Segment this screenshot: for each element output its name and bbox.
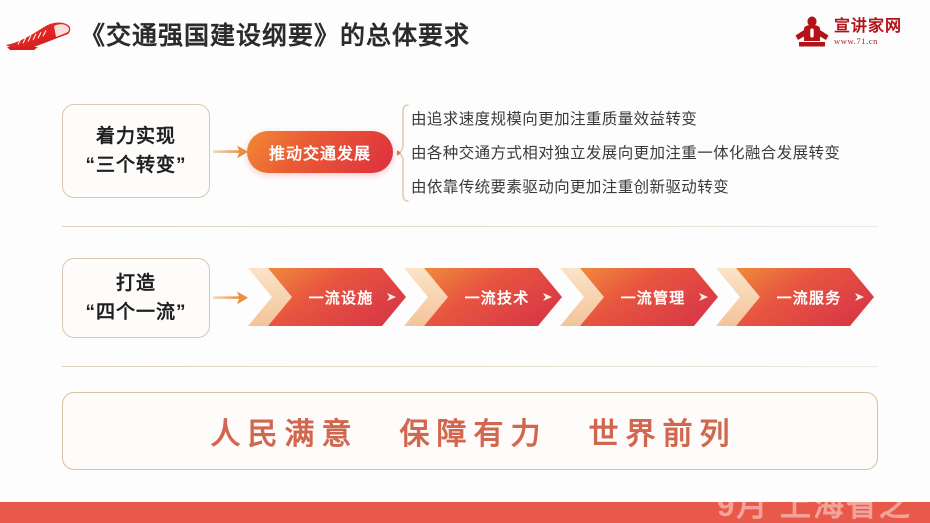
- chevron-item: 一流技术: [404, 268, 562, 326]
- chevron-item: 一流设施: [248, 268, 406, 326]
- slogan-word: 世界前列: [582, 409, 737, 453]
- label-line-2: “三个转变”: [85, 151, 186, 180]
- brand-logo[interactable]: 宣讲家网 www.71.cn: [794, 10, 916, 54]
- svg-text:一流技术: 一流技术: [465, 289, 530, 307]
- bullet-line: 由追求速度规模向更加注重质量效益转变: [411, 103, 891, 137]
- label-box-four-firsts: 打造 “四个一流”: [62, 258, 210, 338]
- slogan-box: 人民满意 保障有力 世界前列: [62, 392, 878, 470]
- slogan-word: 人民满意: [204, 409, 359, 453]
- arrow-right-icon: [213, 287, 249, 309]
- footer-watermark: 9月 上海省之: [717, 480, 912, 523]
- arrow-right-icon: [213, 141, 249, 163]
- divider-bottom: [62, 366, 878, 367]
- label-line-1: 打造: [116, 269, 156, 298]
- label-box-three-changes: 着力实现 “三个转变”: [62, 104, 210, 198]
- speaker-person-icon: [794, 15, 830, 49]
- chevron-item: 一流管理: [560, 268, 718, 326]
- footer-bar: 9月 上海省之: [0, 502, 930, 523]
- label-line-2: “四个一流”: [85, 298, 186, 327]
- label-line-1: 着力实现: [96, 122, 176, 151]
- chevron-item: 一流服务: [716, 268, 874, 326]
- divider-top: [62, 226, 878, 227]
- bullet-list-three-changes: 由追求速度规模向更加注重质量效益转变 由各种交通方式相对独立发展向更加注重一体化…: [411, 103, 891, 205]
- page-title: 《交通强国建设纲要》的总体要求: [80, 16, 470, 52]
- chevron-band-four-firsts: 一流设施 一流技术 一流管理 一流服务: [246, 266, 880, 328]
- slogan-word: 保障有力: [393, 409, 548, 453]
- bullet-line: 由各种交通方式相对独立发展向更加注重一体化融合发展转变: [411, 137, 891, 171]
- pill-promote-transport: 推动交通发展: [247, 131, 393, 173]
- brand-name: 宣讲家网: [834, 19, 902, 35]
- brand-url: www.71.cn: [834, 37, 902, 46]
- curly-brace-icon: [396, 103, 410, 203]
- svg-text:一流服务: 一流服务: [777, 289, 842, 307]
- svg-text:一流管理: 一流管理: [621, 289, 686, 307]
- bullet-line: 由依靠传统要素驱动向更加注重创新驱动转变: [411, 171, 891, 205]
- train-icon: [4, 18, 72, 52]
- svg-text:一流设施: 一流设施: [309, 289, 374, 307]
- slide-canvas: 《交通强国建设纲要》的总体要求 宣讲家网 www.71.cn 着力实现 “三个转…: [0, 0, 930, 523]
